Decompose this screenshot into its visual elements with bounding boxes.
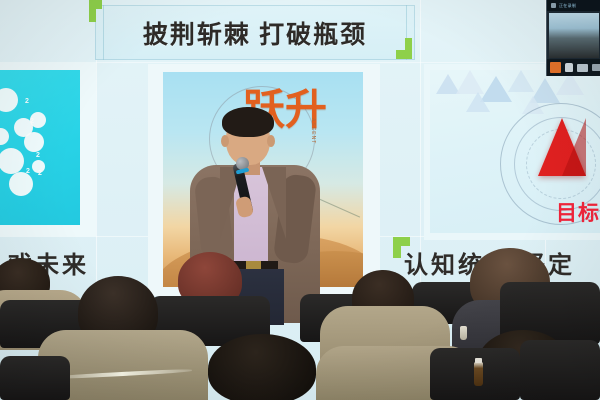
battery-icon: [592, 64, 600, 71]
paper-triangle: [466, 92, 490, 112]
slide-number-badge: 2: [36, 152, 40, 159]
presenter-lapel-right: [262, 167, 286, 239]
flask-icon: [24, 132, 44, 152]
slide-number-badge: 2: [38, 170, 42, 177]
record-icon[interactable]: [550, 62, 561, 73]
water-bottle: [474, 362, 483, 386]
slide-number-badge: 2: [25, 98, 29, 105]
slide-number-badge: 2: [30, 118, 34, 125]
chair: [520, 340, 600, 400]
camera-recorder-monitor[interactable]: 正在录制: [546, 0, 600, 76]
right-slide-pyramid: 目标: [430, 70, 600, 233]
monitor-preview-screen: [549, 13, 599, 58]
bulb-icon: [0, 88, 18, 112]
monitor-bottom-bar: [547, 59, 600, 76]
banner-corner-accent: [393, 237, 401, 258]
attendee-head: [208, 334, 316, 400]
pen-icon: [0, 128, 9, 145]
bottle-cap: [475, 358, 482, 363]
monitor-status-label: 正在录制: [559, 3, 576, 9]
screenshot-root: 2 2 2 2 2 跃升 ASCENT 目标 披荆斩棘 打破瓶: [0, 0, 600, 400]
presenter-ear: [267, 135, 275, 147]
presenter-hair: [222, 107, 274, 137]
red-pyramid-shadow-face: [562, 118, 586, 176]
monitor-top-bar: 正在录制: [547, 0, 600, 11]
chair: [0, 356, 70, 400]
banner-headline: 披荆斩棘 打破瓶颈: [95, 5, 415, 60]
settings-icon[interactable]: [577, 64, 588, 72]
slide-red-heading: 目标: [556, 197, 600, 227]
left-slide-icon-cluster: 2 2 2 2 2: [0, 70, 80, 225]
water-bottle: [460, 326, 467, 340]
presenter-ear: [221, 135, 229, 147]
globe-icon: [0, 148, 24, 174]
record-dot-icon: [551, 3, 556, 8]
mic-icon[interactable]: [565, 63, 573, 72]
slide-number-badge: 2: [26, 168, 30, 175]
child-icon: [9, 172, 33, 196]
